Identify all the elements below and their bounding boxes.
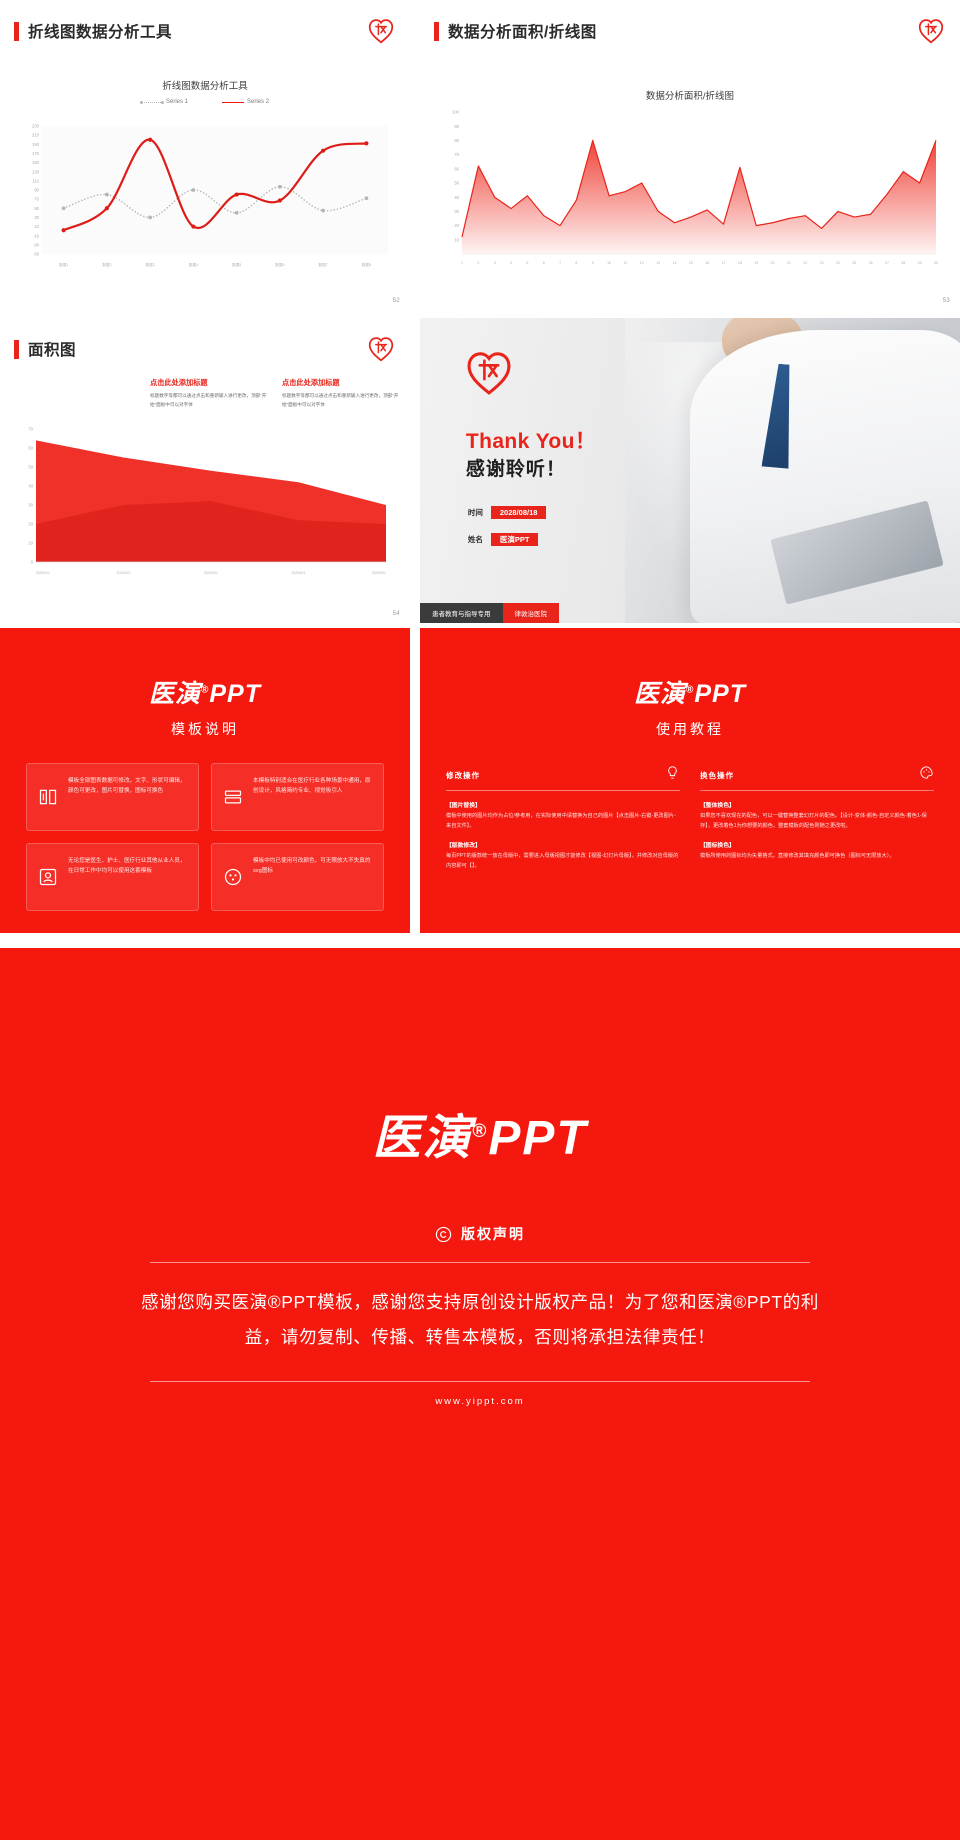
brand-registered-mark: ® [472, 1121, 488, 1142]
svg-text:50: 50 [28, 465, 33, 470]
svg-text:7: 7 [559, 261, 561, 265]
slide-subtitle: 模板说明 [0, 719, 410, 739]
yi-yan-heart-logo-icon [466, 350, 512, 396]
brand-wordmark: 医演®PPT [0, 674, 410, 710]
header-accent-bar [434, 22, 439, 41]
svg-text:130: 130 [32, 169, 40, 174]
footer-spacer [559, 603, 960, 623]
brand-logo-wrap: 医演®PPT [0, 948, 960, 1168]
info-card-text: 模板全部图表数据可修改，文字、形状可编辑，颜色可更改，图片可替换，图标可换色 [68, 776, 188, 818]
yi-yan-heart-logo-icon [918, 18, 944, 44]
bulb-icon [665, 765, 680, 785]
svg-text:10: 10 [28, 541, 33, 546]
svg-text:4: 4 [510, 261, 512, 265]
svg-text:12: 12 [640, 261, 644, 265]
info-card-text: 模板中均已使用可改颜色，可无限放大不失真的svg图标 [253, 856, 373, 898]
info-card: 本模板特别适合在医疗行业各种场景中通用，原创设计，风格简约专业、视觉吸引人 [211, 763, 384, 831]
info-card-text: 本模板特别适合在医疗行业各种场景中通用，原创设计，风格简约专业、视觉吸引人 [253, 776, 373, 818]
slide-subtitle: 使用教程 [420, 719, 960, 739]
svg-text:22: 22 [803, 261, 807, 265]
svg-text:50: 50 [34, 206, 39, 211]
svg-text:23: 23 [820, 261, 824, 265]
slide-area-line-chart: 数据分析面积/折线图 数据分析面积/折线图 102030405060708090… [420, 0, 960, 310]
yi-yan-heart-logo-icon [368, 336, 394, 362]
svg-text:18: 18 [738, 261, 742, 265]
svg-text:20: 20 [454, 223, 459, 228]
tutorial-block: 【图标换色】 模板所使用的图标均为矢量格式，直接修改其填充颜色即可换色（图标可无… [700, 840, 934, 862]
legend-swatch-series2 [222, 102, 244, 103]
svg-text:110: 110 [32, 178, 39, 183]
svg-text:2: 2 [477, 261, 479, 265]
copyright-badge-text: 版权声明 [461, 1224, 525, 1244]
legend-label-series1: Series 1 [166, 99, 188, 105]
svg-text:2029/2/1: 2029/2/1 [117, 571, 131, 575]
svg-text:60: 60 [28, 446, 33, 451]
info-card-grid: 模板全部图表数据可修改，文字、形状可编辑，颜色可更改，图片可替换，图标可换色 本… [26, 763, 384, 911]
brand-cn: 医演 [372, 1112, 472, 1165]
tutorial-block-title: 【图标换色】 [700, 840, 934, 849]
tutorial-block-title: 【图片替换】 [446, 800, 680, 809]
svg-text:29: 29 [918, 261, 922, 265]
brand-cn: 医演 [634, 680, 686, 708]
svg-text:2029/5/1: 2029/5/1 [372, 571, 386, 575]
divider-bottom [150, 1381, 810, 1382]
column-header: 换色操作 [700, 765, 934, 791]
caption-block: 点击此处添加标题 标题数字等都可以通过点击和重新输入进行更改，顶部“开始”面板中… [150, 378, 268, 410]
user-icon [37, 856, 59, 898]
brand-ppt: PPT [209, 680, 261, 708]
info-card-text: 无论您是医生、护士、医疗行业其他从业人员，在日常工作中均可以使用这套模板 [68, 856, 188, 898]
copyright-icon [435, 1226, 452, 1243]
svg-text:60: 60 [454, 166, 459, 171]
svg-text:3: 3 [494, 261, 496, 265]
svg-text:-30: -30 [33, 242, 40, 247]
layers-icon [222, 776, 244, 818]
thank-you-chinese: 感谢聆听！ [466, 454, 566, 481]
header-accent-bar [14, 340, 19, 359]
svg-text:40: 40 [454, 195, 459, 200]
tutorial-block-title: 【版款修改】 [446, 840, 680, 849]
info-card: 模板全部图表数据可修改，文字、形状可编辑，颜色可更改，图片可替换，图标可换色 [26, 763, 199, 831]
svg-text:30: 30 [454, 209, 459, 214]
dots-icon [222, 856, 244, 898]
svg-text:27: 27 [885, 261, 889, 265]
svg-text:6: 6 [543, 261, 545, 265]
tutorial-block-text: 模板所使用的图标均为矢量格式，直接修改其填充颜色即可换色（图标可无限放大）。 [700, 852, 934, 862]
caption-blocks: 点击此处添加标题 标题数字等都可以通过点击和重新输入进行更改，顶部“开始”面板中… [150, 378, 400, 410]
slide-header: 面积图 [14, 338, 76, 360]
caption-title: 点击此处添加标题 [150, 378, 268, 388]
copyright-badge: 版权声明 [0, 1224, 960, 1244]
svg-text:17: 17 [722, 261, 726, 265]
svg-text:28: 28 [901, 261, 905, 265]
svg-text:15: 15 [689, 261, 693, 265]
svg-text:8: 8 [575, 261, 577, 265]
copyright-message: 感谢您购买医演®PPT模板，感谢您支持原创设计版权产品！为了您和医演®PPT的利… [130, 1285, 830, 1355]
svg-text:2029/4/1: 2029/4/1 [292, 571, 306, 575]
website-url: www.yippt.com [0, 1396, 960, 1407]
brand-ppt: PPT [694, 680, 746, 708]
area-chart-canvas: 1020304050607080901001234567891011121314… [438, 108, 942, 268]
field-label-name: 姓名 [466, 533, 491, 546]
caption-body: 标题数字等都可以通过点击和重新输入进行更改，顶部“开始”面板中可以对字体 [282, 392, 400, 410]
svg-text:21: 21 [787, 261, 791, 265]
slide-header: 折线图数据分析工具 [14, 20, 172, 42]
legend-label-series2: Series 2 [247, 99, 269, 105]
caption-body: 标题数字等都可以通过点击和重新输入进行更改，顶部“开始”面板中可以对字体 [150, 392, 268, 410]
tutorial-column-recolor: 换色操作 【整体换色】 如果您不喜欢现在的配色，可以一键替换整套幻灯片的配色。【… [700, 765, 934, 872]
brand-cn: 医演 [149, 680, 201, 708]
svg-text:25: 25 [852, 261, 856, 265]
svg-text:10: 10 [607, 261, 611, 265]
chart-title: 折线图数据分析工具 [0, 78, 410, 92]
svg-text:230: 230 [32, 124, 40, 129]
column-heading: 修改操作 [446, 770, 480, 781]
stacked-area-chart-canvas: 0102030405060702029/1/12029/2/12029/3/12… [14, 423, 394, 578]
svg-text:2029/3/1: 2029/3/1 [204, 571, 218, 575]
tutorial-columns: 修改操作 【图片替换】 模板中使用的图片均作为占位/参考用，在实际使用中请替换为… [446, 765, 934, 872]
svg-text:10: 10 [34, 224, 39, 229]
caption-title: 点击此处添加标题 [282, 378, 400, 388]
svg-text:40: 40 [28, 484, 33, 489]
slide-area-chart: 面积图 点击此处添加标题 标题数字等都可以通过点击和重新输入进行更改，顶部“开始… [0, 318, 410, 623]
svg-text:10: 10 [454, 237, 459, 242]
svg-text:30: 30 [28, 503, 33, 508]
divider-top [150, 1262, 810, 1263]
svg-text:50: 50 [454, 181, 459, 186]
tutorial-block-text: 模板中使用的图片均作为占位/参考用，在实际使用中请替换为自己的图片【点击图片-右… [446, 812, 680, 831]
tutorial-block-text: 每页PPT的版款统一放在母版中，需要进入母版视图才能修改【视图-幻灯片母版】，并… [446, 852, 680, 871]
svg-text:-50: -50 [33, 252, 40, 257]
tutorial-block: 【版款修改】 每页PPT的版款统一放在母版中，需要进入母版视图才能修改【视图-幻… [446, 840, 680, 871]
legend-item-series1: Series 1 [141, 99, 188, 105]
svg-text:16: 16 [705, 261, 709, 265]
svg-text:11: 11 [624, 261, 628, 265]
svg-text:-10: -10 [33, 233, 40, 238]
slide-line-chart: 折线图数据分析工具 折线图数据分析工具 Series 1 Series 2 -5… [0, 0, 410, 310]
slide-number: 52 [393, 298, 400, 304]
info-card: 无论您是医生、护士、医疗行业其他从业人员，在日常工作中均可以使用这套模板 [26, 843, 199, 911]
legend-item-series2: Series 2 [222, 99, 269, 105]
page-title: 面积图 [28, 338, 76, 360]
field-row-name: 姓名 医演PPT [466, 533, 539, 546]
slide-template-note: 医演®PPT 模板说明 模板全部图表数据可修改，文字、形状可编辑，颜色可更改，图… [0, 628, 410, 933]
svg-text:2029/1/1: 2029/1/1 [36, 571, 50, 575]
field-row-date: 时间 2028/08/18 [466, 506, 547, 519]
slide-tutorial: 医演®PPT 使用教程 修改操作 【图片替换】 模板中使用的图片均作为占位/参考… [420, 628, 960, 933]
svg-text:数据1: 数据1 [59, 262, 68, 267]
slide-number: 54 [393, 611, 400, 617]
line-chart-canvas: -50-30-101030507090110130150170190210230… [16, 122, 394, 270]
slide-number: 53 [943, 298, 950, 304]
palette-icon [919, 765, 934, 785]
chart-legend: Series 1 Series 2 [0, 99, 410, 105]
brand-wordmark: 医演®PPT [420, 674, 960, 710]
svg-text:210: 210 [32, 133, 40, 138]
svg-text:数据7: 数据7 [319, 262, 328, 267]
svg-text:30: 30 [934, 261, 938, 265]
slide-header: 数据分析面积/折线图 [434, 20, 597, 42]
svg-text:数据5: 数据5 [232, 262, 241, 267]
svg-text:70: 70 [454, 152, 459, 157]
thank-you-english: Thank You！ [466, 425, 596, 455]
svg-text:13: 13 [656, 261, 660, 265]
svg-text:1: 1 [461, 261, 463, 265]
field-value-name: 医演PPT [491, 533, 539, 546]
svg-text:80: 80 [454, 138, 459, 143]
svg-text:数据3: 数据3 [146, 262, 155, 267]
field-label-date: 时间 [466, 506, 491, 519]
tutorial-block-title: 【整体换色】 [700, 800, 934, 809]
tutorial-block: 【整体换色】 如果您不喜欢现在的配色，可以一键替换整套幻灯片的配色。【设计-变体… [700, 800, 934, 831]
svg-text:70: 70 [34, 197, 39, 202]
book-icon [37, 776, 59, 818]
svg-text:19: 19 [754, 261, 758, 265]
field-value-date: 2028/08/18 [491, 506, 547, 519]
slide-footer: 患者教育与指导专用 律敦治医院 [420, 603, 960, 623]
tutorial-block-text: 如果您不喜欢现在的配色，可以一键替换整套幻灯片的配色。【设计-变体-颜色-自定义… [700, 812, 934, 831]
svg-text:20: 20 [771, 261, 775, 265]
legend-swatch-series1 [141, 102, 163, 103]
svg-text:100: 100 [452, 110, 460, 115]
tutorial-block: 【图片替换】 模板中使用的图片均作为占位/参考用，在实际使用中请替换为自己的图片… [446, 800, 680, 831]
tutorial-column-modify: 修改操作 【图片替换】 模板中使用的图片均作为占位/参考用，在实际使用中请替换为… [446, 765, 680, 872]
brand-ppt: PPT [488, 1112, 587, 1165]
svg-text:150: 150 [32, 160, 40, 165]
svg-text:数据4: 数据4 [189, 262, 198, 267]
svg-text:90: 90 [454, 124, 459, 129]
footer-tag-left: 患者教育与指导专用 [420, 603, 503, 623]
header-accent-bar [14, 22, 19, 41]
svg-text:24: 24 [836, 261, 840, 265]
column-heading: 换色操作 [700, 770, 734, 781]
svg-text:30: 30 [34, 215, 39, 220]
svg-text:70: 70 [28, 427, 33, 432]
svg-text:14: 14 [672, 261, 676, 265]
footer-tag-right: 律敦治医院 [503, 603, 560, 623]
column-header: 修改操作 [446, 765, 680, 791]
svg-text:170: 170 [32, 151, 40, 156]
svg-text:0: 0 [31, 560, 34, 565]
info-card: 模板中均已使用可改颜色，可无限放大不失真的svg图标 [211, 843, 384, 911]
svg-text:90: 90 [34, 188, 39, 193]
page-title: 数据分析面积/折线图 [448, 20, 597, 42]
svg-text:数据2: 数据2 [102, 262, 111, 267]
yi-yan-heart-logo-icon [368, 18, 394, 44]
chart-title: 数据分析面积/折线图 [420, 88, 960, 102]
svg-text:190: 190 [32, 142, 40, 147]
svg-text:20: 20 [28, 522, 33, 527]
svg-text:26: 26 [869, 261, 873, 265]
svg-text:数据8: 数据8 [362, 262, 371, 267]
svg-text:数据6: 数据6 [275, 262, 284, 267]
brand-wordmark: 医演®PPT [372, 1098, 587, 1168]
slide-copyright: 医演®PPT 版权声明 感谢您购买医演®PPT模板，感谢您支持原创设计版权产品！… [0, 948, 960, 1840]
slide-thank-you: Thank You！ 感谢聆听！ 时间 2028/08/18 姓名 医演PPT … [420, 318, 960, 623]
caption-block: 点击此处添加标题 标题数字等都可以通过点击和重新输入进行更改，顶部“开始”面板中… [282, 378, 400, 410]
page-title: 折线图数据分析工具 [28, 20, 172, 42]
svg-text:5: 5 [526, 261, 528, 265]
svg-text:9: 9 [592, 261, 594, 265]
